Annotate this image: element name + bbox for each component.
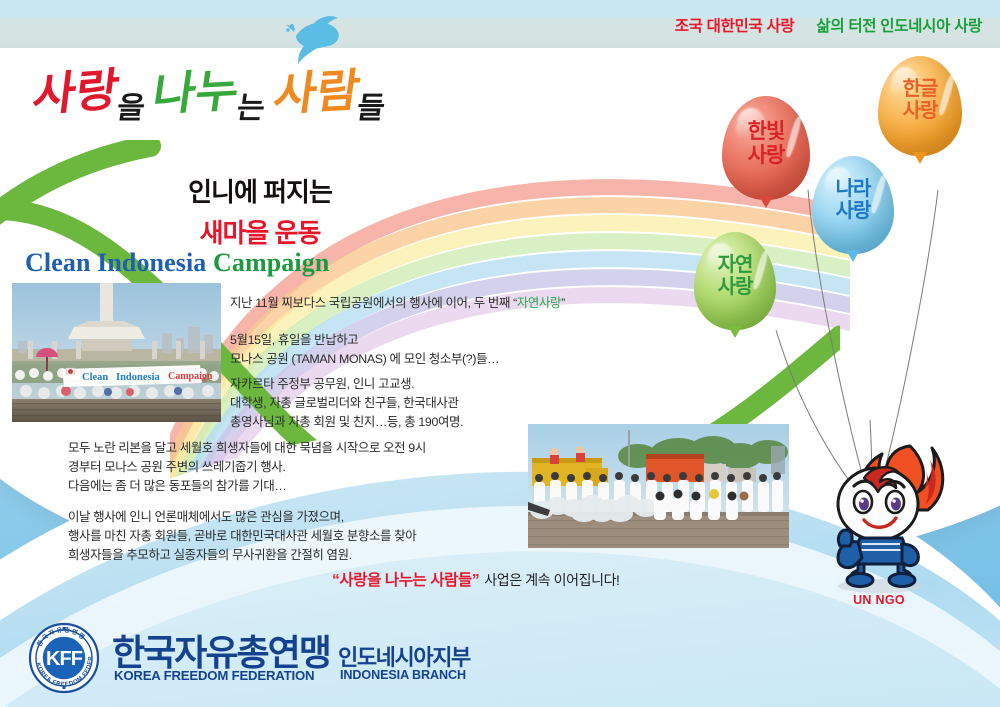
photo-trash-collection [528, 424, 789, 548]
title-word-3: 사람 [269, 54, 364, 124]
balloon-jayeon-line1: 자연 [694, 254, 776, 276]
balloon-hanbit-label: 한빛 사랑 [722, 120, 810, 167]
body-paragraph-1: 지난 11월 찌보다스 국립공원에서의 행사에 이어, 두 번째 “자연사랑” [230, 294, 680, 313]
balloon-hangeul-line2: 사랑 [878, 100, 962, 122]
title-word-1: 사랑 [29, 53, 123, 125]
balloon-nara-label: 나라 사랑 [812, 178, 894, 223]
closing-quoted: “사랑을 나누는 사람들” [332, 572, 479, 589]
footer-logo: 한국자유총연맹 KOREA FREEDOM FEDERATION KFF 한국자… [28, 622, 448, 694]
poster-canvas: 조국 대한민국 사랑삶의 터전 인도네시아 사랑 사랑을나누는사람들 인니에 퍼… [0, 0, 1000, 707]
balloon-nara-line1: 나라 [812, 178, 894, 200]
svg-text:Clean: Clean [82, 372, 108, 383]
title-word-2: 나누 [149, 54, 244, 124]
english-campaign-title: Clean Indonesia Campaign [25, 248, 455, 278]
svg-text:Campaign: Campaign [168, 371, 213, 382]
balloon-jayeon-line2: 사랑 [694, 276, 776, 298]
tagline-indonesia: 삶의 터전 인도네시아 사랑 [816, 18, 982, 35]
svg-text:Indonesia: Indonesia [116, 372, 161, 383]
headline-line-2: 새마을 운동 [95, 213, 425, 250]
english-title-blue: Clean Indonesia [25, 248, 206, 277]
body-paragraph-5: 이날 행사에 인니 언론매체에서도 많은 관심을 가졌으며, 행사를 마친 자총… [68, 508, 538, 565]
balloon-hangeul-line1: 한글 [878, 78, 962, 100]
balloon-jayeon-knot [728, 326, 742, 338]
balloon-hangeul-label: 한글 사랑 [878, 78, 962, 123]
closing-statement: “사랑을 나누는 사람들”사업은 계속 이어집니다! [332, 568, 620, 590]
balloon-hanbit[interactable]: 한빛 사랑 [722, 96, 810, 204]
page-title: 사랑을나누는사람들 [34, 56, 454, 120]
header-tagline: 조국 대한민국 사랑삶의 터전 인도네시아 사랑 [675, 14, 982, 36]
balloon-hangeul-knot [913, 152, 927, 164]
svg-text:KFF: KFF [46, 648, 83, 670]
branch-name-english: INDONESIA BRANCH [340, 668, 466, 682]
headline-block: 인니에 퍼지는 새마을 운동 [95, 172, 425, 250]
balloon-hangeul[interactable]: 한글 사랑 [878, 56, 962, 160]
closing-rest: 사업은 계속 이어집니다! [484, 572, 619, 588]
balloon-nara[interactable]: 나라 사랑 [812, 156, 894, 258]
english-title-green: Campaign [213, 248, 329, 277]
body-paragraph-3: 자카르타 주정부 공무원, 인니 고교생. 대학생, 자총 글로벌리더와 친구들… [230, 375, 670, 432]
balloon-jayeon[interactable]: 자연 사랑 [694, 232, 776, 334]
org-name-english: KOREA FREEDOM FEDERATION [114, 668, 314, 683]
body-p1-quote-close: ” [561, 296, 565, 310]
balloon-hanbit-line1: 한빛 [722, 120, 810, 144]
title-particle-1: 을 [114, 83, 148, 127]
body-p1-highlight: 자연사랑 [517, 296, 561, 310]
balloon-hanbit-knot [759, 196, 773, 208]
body-paragraph-2: 5월15일, 휴일을 반납하고 모나스 공원 (TAMAN MONAS) 에 모… [230, 331, 680, 369]
mascot-flame-character [806, 434, 952, 594]
balloon-hanbit-line2: 사랑 [722, 144, 810, 168]
balloon-nara-line2: 사랑 [812, 200, 894, 222]
body-p1-prefix: 지난 11월 찌보다스 국립공원에서의 행사에 이어, 두 번째 [230, 296, 513, 310]
body-paragraph-4: 모두 노란 리본을 달고 세월호 희생자들에 대한 묵념을 시작으로 오전 9시… [68, 439, 538, 496]
balloon-nara-knot [846, 250, 860, 262]
kff-logo-mark: 한국자유총연맹 KOREA FREEDOM FEDERATION KFF [28, 622, 100, 694]
balloon-jayeon-label: 자연 사랑 [694, 254, 776, 299]
headline-line-1: 인니에 퍼지는 [95, 172, 425, 209]
photo-monas-group: Clean Indonesia Campaign [12, 283, 221, 422]
tagline-korea: 조국 대한민국 사랑 [675, 18, 795, 35]
mascot-caption: UN NGO [806, 593, 952, 607]
